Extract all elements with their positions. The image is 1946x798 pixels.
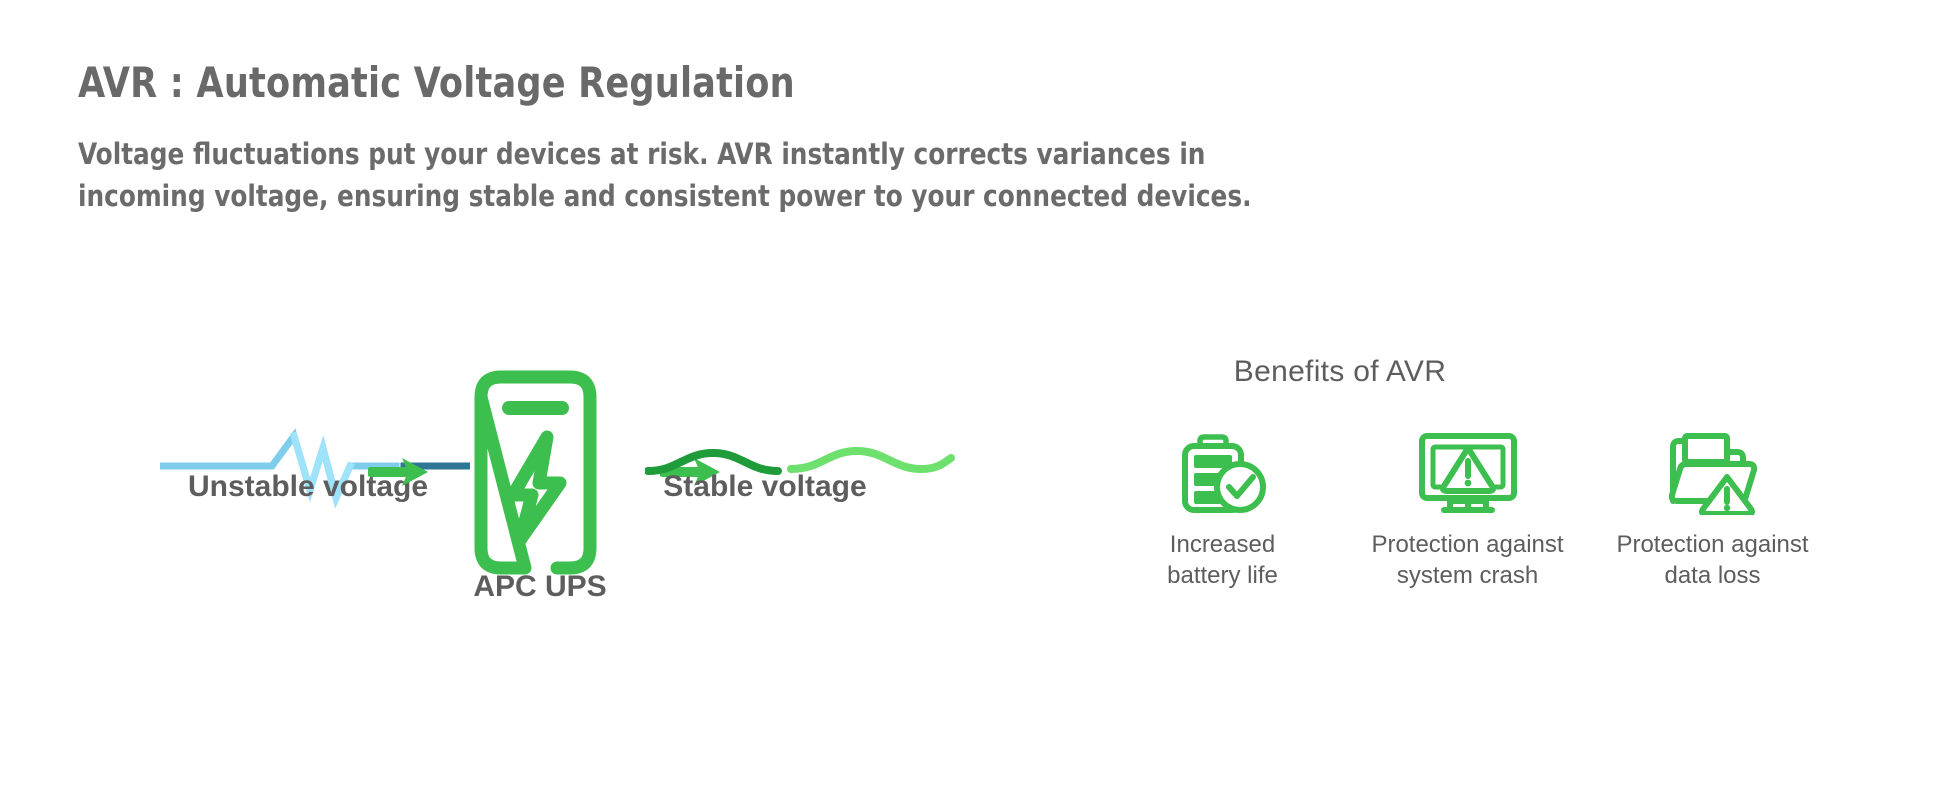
header: AVR : Automatic Voltage Regulation Volta…	[78, 58, 1478, 217]
benefit-label-battery: Increased battery life	[1167, 529, 1278, 591]
benefit-item-system-crash: Protection against system crash	[1345, 431, 1590, 591]
arrow-right-icon	[368, 455, 430, 494]
stable-voltage-label: Stable voltage	[555, 470, 975, 504]
benefit-item-battery: Increased battery life	[1100, 431, 1345, 591]
benefits-list: Increased battery life Protection agains…	[1100, 431, 1900, 591]
benefit-label-system-crash: Protection against system crash	[1371, 529, 1563, 591]
ups-device-label: APC UPS	[400, 570, 680, 604]
monitor-warning-icon	[1416, 431, 1520, 515]
benefit-item-data-loss: Protection against data loss	[1590, 431, 1835, 591]
page-subtitle: Voltage fluctuations put your devices at…	[78, 133, 1332, 217]
battery-check-icon	[1175, 431, 1271, 515]
benefits-section: Benefits of AVR Increased battery life	[1100, 355, 1900, 591]
page-title: AVR : Automatic Voltage Regulation	[78, 58, 1380, 107]
benefit-label-data-loss: Protection against data loss	[1616, 529, 1808, 591]
benefits-heading: Benefits of AVR	[1090, 355, 1590, 389]
folder-warning-icon	[1663, 431, 1763, 515]
